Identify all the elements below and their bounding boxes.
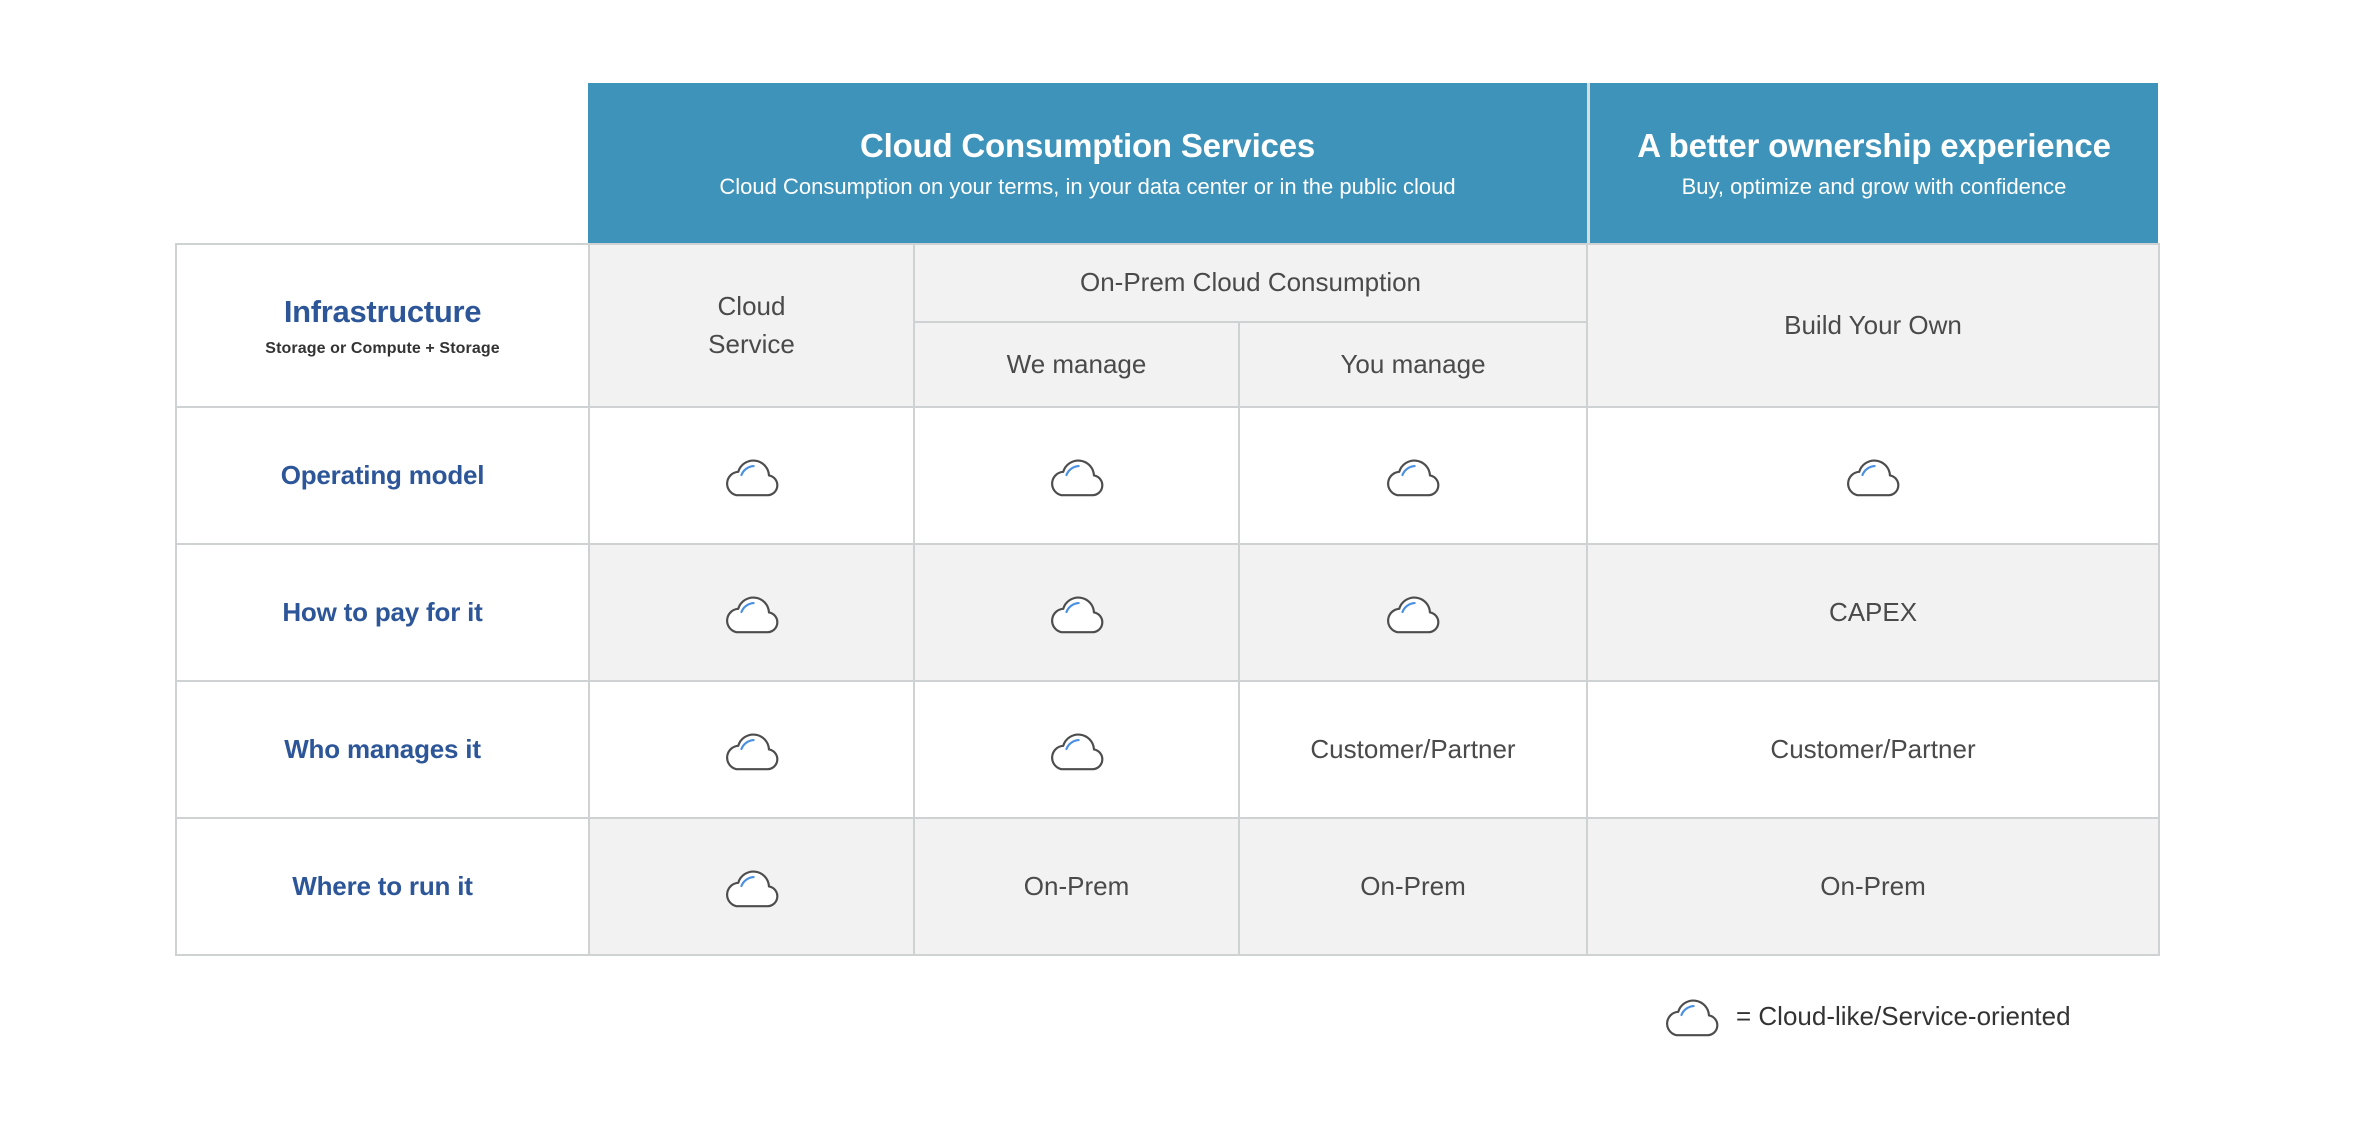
legend: = Cloud-like/Service-oriented xyxy=(1660,995,2071,1037)
table-row: Who manages it Customer/Partner Customer… xyxy=(176,681,2159,818)
table-row: How to pay for it CAPEX xyxy=(176,544,2159,681)
column-header-cloud-service-line2: Service xyxy=(590,326,913,364)
data-cell-text: Customer/Partner xyxy=(1240,734,1586,765)
cloud-icon-cell xyxy=(914,544,1239,681)
cloud-icon xyxy=(1660,995,1724,1037)
data-cell-text: On-Prem xyxy=(915,871,1238,902)
corner-subtitle: Storage or Compute + Storage xyxy=(177,340,588,358)
cloud-icon xyxy=(590,455,913,497)
cloud-icon-cell xyxy=(589,407,914,544)
banner-left-title: Cloud Consumption Services xyxy=(860,126,1315,166)
data-cell: On-Prem xyxy=(914,818,1239,955)
table-row: Operating model xyxy=(176,407,2159,544)
corner-cell-infrastructure: Infrastructure Storage or Compute + Stor… xyxy=(176,244,589,407)
data-cell: CAPEX xyxy=(1587,544,2159,681)
data-cell-text: On-Prem xyxy=(1240,871,1586,902)
banner-panel-cloud-consumption-services: Cloud Consumption Services Cloud Consump… xyxy=(588,83,1590,243)
cloud-icon xyxy=(590,729,913,771)
cloud-icon xyxy=(915,729,1238,771)
column-header-we-manage-label: We manage xyxy=(915,346,1238,384)
table-header-row-top: Infrastructure Storage or Compute + Stor… xyxy=(176,244,2159,322)
cloud-icon xyxy=(1588,455,2158,497)
row-label-cell: How to pay for it xyxy=(176,544,589,681)
banner-row: Cloud Consumption Services Cloud Consump… xyxy=(588,83,2158,243)
cloud-icon xyxy=(1240,592,1586,634)
column-header-you-manage: You manage xyxy=(1239,322,1587,407)
cloud-icon-cell xyxy=(1239,544,1587,681)
cloud-icon xyxy=(590,592,913,634)
banner-left-subtitle: Cloud Consumption on your terms, in your… xyxy=(719,174,1455,200)
cloud-icon-cell xyxy=(589,681,914,818)
column-header-on-prem-cloud-consumption: On-Prem Cloud Consumption xyxy=(914,244,1587,322)
cloud-icon xyxy=(590,866,913,908)
data-cell-text: CAPEX xyxy=(1588,597,2158,628)
column-header-cloud-service: Cloud Service xyxy=(589,244,914,407)
cloud-icon xyxy=(915,592,1238,634)
banner-right-subtitle: Buy, optimize and grow with confidence xyxy=(1682,174,2067,200)
table-row: Where to run it On-Prem On-Prem On-Prem xyxy=(176,818,2159,955)
corner-title: Infrastructure xyxy=(177,293,588,330)
cloud-icon xyxy=(915,455,1238,497)
data-cell: On-Prem xyxy=(1239,818,1587,955)
column-header-you-manage-label: You manage xyxy=(1240,346,1586,384)
row-label-cell: Where to run it xyxy=(176,818,589,955)
row-label: Where to run it xyxy=(177,871,588,902)
row-label-cell: Operating model xyxy=(176,407,589,544)
column-header-we-manage: We manage xyxy=(914,322,1239,407)
row-label: Operating model xyxy=(177,460,588,491)
cloud-icon-cell xyxy=(589,544,914,681)
legend-label: = Cloud-like/Service-oriented xyxy=(1736,1001,2071,1032)
row-label: How to pay for it xyxy=(177,597,588,628)
banner-panel-better-ownership-experience: A better ownership experience Buy, optim… xyxy=(1590,83,2158,243)
cloud-icon-cell xyxy=(914,681,1239,818)
banner-right-title: A better ownership experience xyxy=(1637,126,2110,166)
column-header-build-your-own-label: Build Your Own xyxy=(1588,307,2158,345)
data-cell-text: On-Prem xyxy=(1588,871,2158,902)
data-cell: Customer/Partner xyxy=(1587,681,2159,818)
cloud-icon-cell xyxy=(1239,407,1587,544)
data-cell: On-Prem xyxy=(1587,818,2159,955)
cloud-icon xyxy=(1240,455,1586,497)
cloud-icon-cell xyxy=(914,407,1239,544)
data-cell: Customer/Partner xyxy=(1239,681,1587,818)
slide-canvas: Cloud Consumption Services Cloud Consump… xyxy=(0,0,2356,1126)
column-header-build-your-own: Build Your Own xyxy=(1587,244,2159,407)
data-cell-text: Customer/Partner xyxy=(1588,734,2158,765)
row-label: Who manages it xyxy=(177,734,588,765)
column-header-cloud-service-line1: Cloud xyxy=(590,288,913,326)
cloud-icon-cell xyxy=(1587,407,2159,544)
row-label-cell: Who manages it xyxy=(176,681,589,818)
comparison-table: Infrastructure Storage or Compute + Stor… xyxy=(175,243,2160,956)
cloud-icon-cell xyxy=(589,818,914,955)
column-header-on-prem-group-label: On-Prem Cloud Consumption xyxy=(915,264,1586,302)
